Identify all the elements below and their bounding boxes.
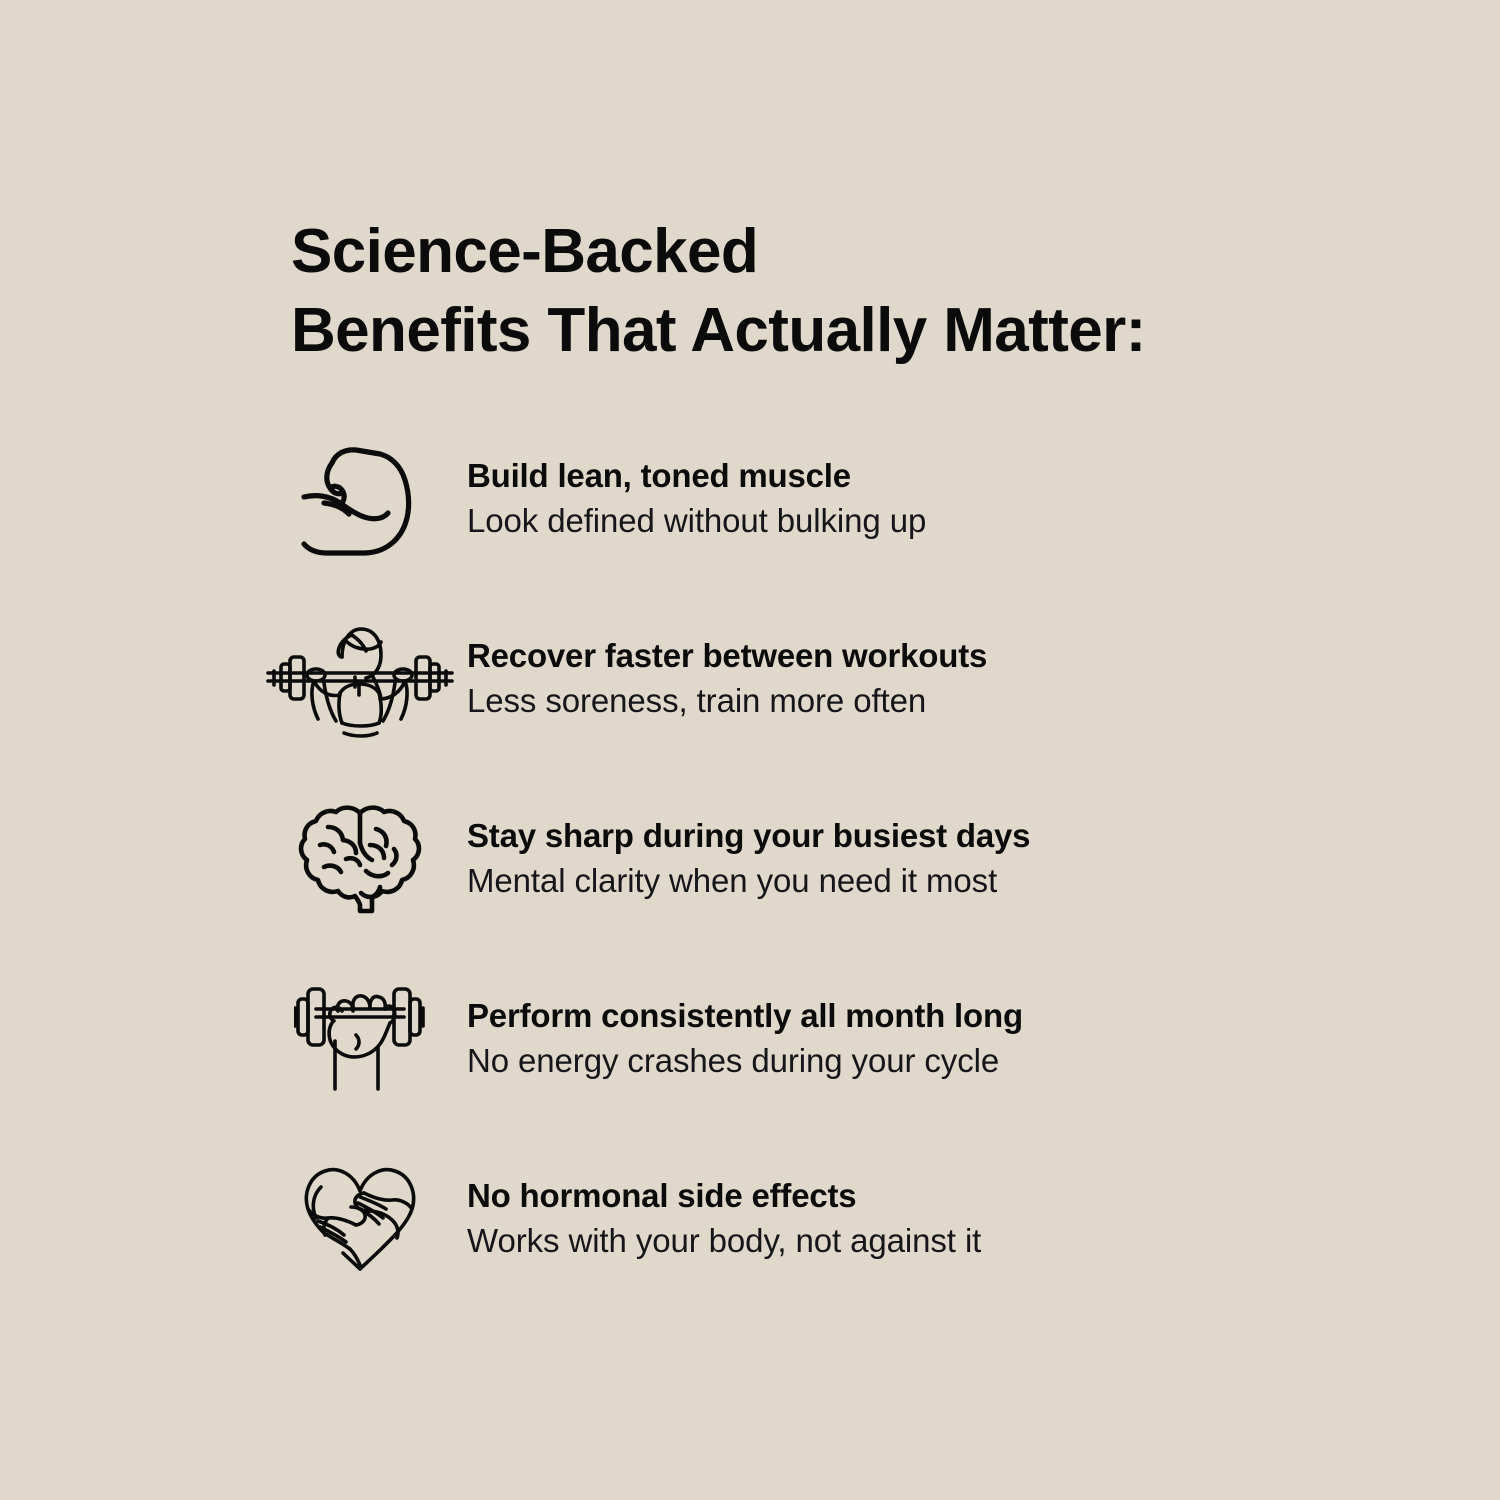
benefit-title: No hormonal side effects	[467, 1175, 1312, 1216]
brain-icon	[252, 797, 467, 915]
benefit-row: Stay sharp during your busiest days Ment…	[252, 797, 1312, 977]
benefit-title: Perform consistently all month long	[467, 995, 1312, 1036]
benefit-subtitle: Less soreness, train more often	[467, 679, 1312, 723]
benefit-text: No hormonal side effects Works with your…	[467, 1157, 1312, 1263]
benefit-text: Perform consistently all month long No e…	[467, 977, 1312, 1083]
benefit-row: Perform consistently all month long No e…	[252, 977, 1312, 1157]
benefit-title: Recover faster between workouts	[467, 635, 1312, 676]
benefit-text: Recover faster between workouts Less sor…	[467, 617, 1312, 723]
hand-holding-dumbbell-icon	[252, 977, 467, 1093]
benefit-row: Build lean, toned muscle Look defined wi…	[252, 437, 1312, 617]
woman-barbell-squat-icon	[252, 617, 467, 745]
page-title: Science-Backed Benefits That Actually Ma…	[291, 212, 1291, 371]
benefit-row: Recover faster between workouts Less sor…	[252, 617, 1312, 797]
hands-holding-heart-icon	[252, 1157, 467, 1281]
page-title-line-1: Science-Backed	[291, 212, 1291, 291]
page-title-line-2: Benefits That Actually Matter:	[291, 291, 1291, 370]
benefit-text: Build lean, toned muscle Look defined wi…	[467, 437, 1312, 543]
benefit-title: Stay sharp during your busiest days	[467, 815, 1312, 856]
benefits-infographic: Science-Backed Benefits That Actually Ma…	[0, 0, 1500, 1500]
flexed-bicep-icon	[252, 437, 467, 559]
benefits-list: Build lean, toned muscle Look defined wi…	[252, 437, 1312, 1337]
benefit-subtitle: Works with your body, not against it	[467, 1219, 1312, 1263]
benefit-subtitle: Look defined without bulking up	[467, 499, 1312, 543]
benefit-row: No hormonal side effects Works with your…	[252, 1157, 1312, 1337]
benefit-text: Stay sharp during your busiest days Ment…	[467, 797, 1312, 903]
benefit-subtitle: No energy crashes during your cycle	[467, 1039, 1312, 1083]
benefit-subtitle: Mental clarity when you need it most	[467, 859, 1312, 903]
benefit-title: Build lean, toned muscle	[467, 455, 1312, 496]
